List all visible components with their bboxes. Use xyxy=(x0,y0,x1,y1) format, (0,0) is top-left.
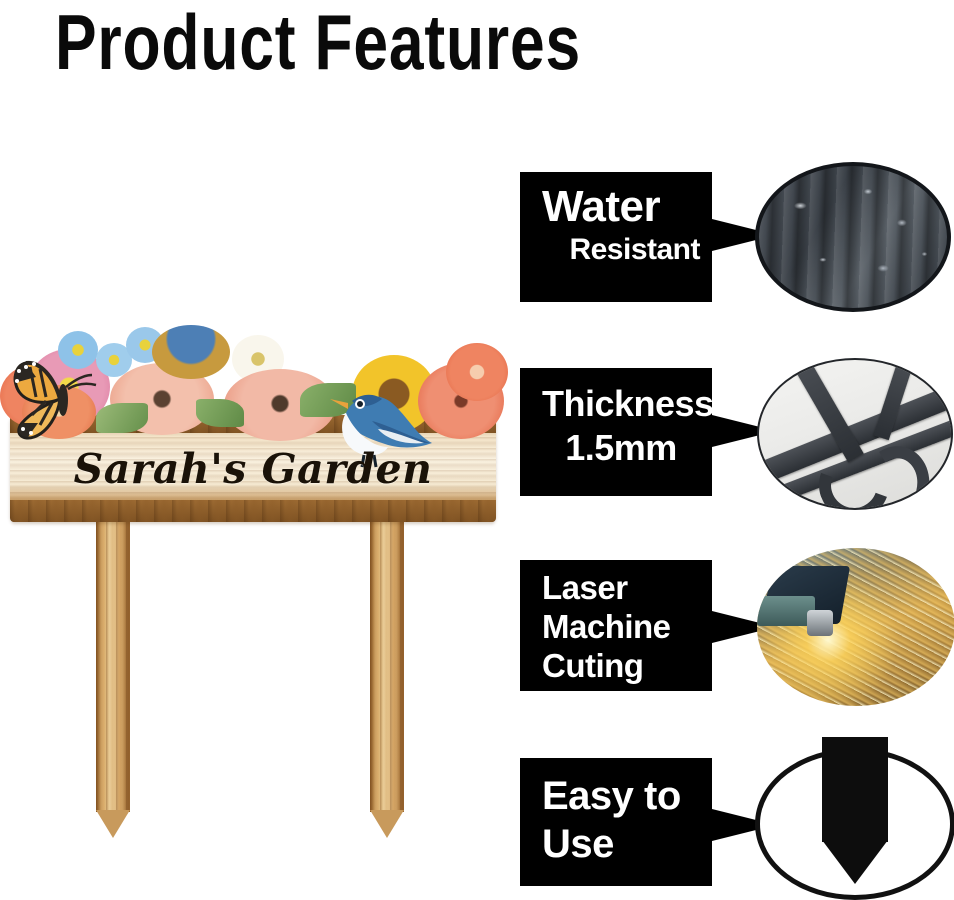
blue-thistle-flower xyxy=(152,325,230,379)
ground-stake-icon xyxy=(822,737,888,842)
page-title: Product Features xyxy=(55,2,695,82)
laser-cutting-photo xyxy=(757,548,954,706)
sign-text: Sarah's Garden xyxy=(10,437,496,501)
feature-label-thickness: Thickness 1.5mm xyxy=(520,368,712,496)
feature-label-line: Cuting xyxy=(542,646,700,685)
feature-label-line: Thickness xyxy=(542,382,700,426)
metal-scroll-piece xyxy=(853,439,938,510)
ground-stake-left xyxy=(96,512,130,812)
feature-easy-to-use: Easy to Use xyxy=(512,748,954,900)
feature-label-water-resistant: Water Resistant xyxy=(520,172,712,302)
flower-decoration-band xyxy=(0,325,508,435)
stake-tip-right xyxy=(370,810,404,838)
feature-label-line: 1.5mm xyxy=(542,426,700,470)
feature-water-resistant: Water Resistant xyxy=(512,160,954,320)
feature-label-line: Water xyxy=(542,182,700,232)
feature-laser-machine-cutting: Laser Machine Cuting xyxy=(512,548,954,713)
metal-thickness-photo xyxy=(757,358,953,510)
stake-tip-left xyxy=(96,810,130,838)
feature-label-line: Laser xyxy=(542,568,700,607)
feature-label-line: Machine xyxy=(542,607,700,646)
green-leaf xyxy=(196,399,244,427)
feature-label-line: Use xyxy=(542,820,700,868)
feature-label-easy-to-use: Easy to Use xyxy=(520,758,712,886)
feature-label-line: Resistant xyxy=(542,232,700,268)
product-image: Sarah's Garden xyxy=(0,160,510,860)
water-droplets-photo xyxy=(755,162,951,312)
ground-stake-icon-circle xyxy=(755,748,954,900)
laser-nozzle xyxy=(807,610,833,636)
ground-stake-right xyxy=(370,512,404,812)
feature-label-line: Easy to xyxy=(542,772,700,820)
feature-thickness: Thickness 1.5mm xyxy=(512,358,954,518)
coral-poppy-flower xyxy=(446,343,508,401)
monarch-butterfly-icon xyxy=(6,353,118,443)
feature-label-laser-machine-cutting: Laser Machine Cuting xyxy=(520,560,712,691)
